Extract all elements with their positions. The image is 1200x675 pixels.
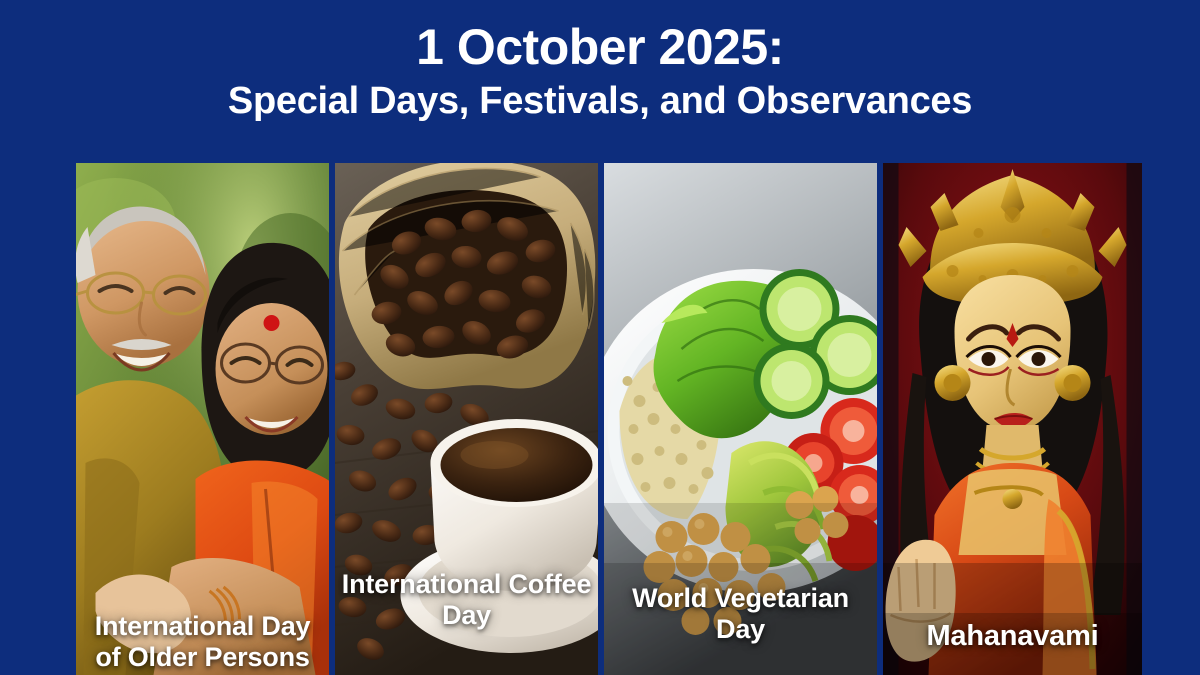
page-subtitle: Special Days, Festivals, and Observances [0, 73, 1200, 123]
observance-panel-row: International Day of Older Persons [76, 163, 1142, 675]
panel-caption: Mahanavami [883, 620, 1142, 653]
poster-header: 1 October 2025: Special Days, Festivals,… [0, 0, 1200, 160]
panel-caption: International Coffee Day [335, 569, 598, 631]
page-title: 1 October 2025: [0, 0, 1200, 73]
panel-older-persons[interactable]: International Day of Older Persons [76, 163, 329, 675]
poster-canvas: 1 October 2025: Special Days, Festivals,… [0, 0, 1200, 675]
panel-mahanavami[interactable]: Mahanavami [883, 163, 1142, 675]
panel-vegetarian-day[interactable]: World Vegetarian Day [604, 163, 877, 675]
elderly-couple-image [76, 163, 329, 675]
durga-idol-image [883, 163, 1142, 675]
panel-coffee-day[interactable]: International Coffee Day [335, 163, 598, 675]
panel-caption: World Vegetarian Day [604, 583, 877, 645]
panel-caption: International Day of Older Persons [76, 611, 329, 673]
